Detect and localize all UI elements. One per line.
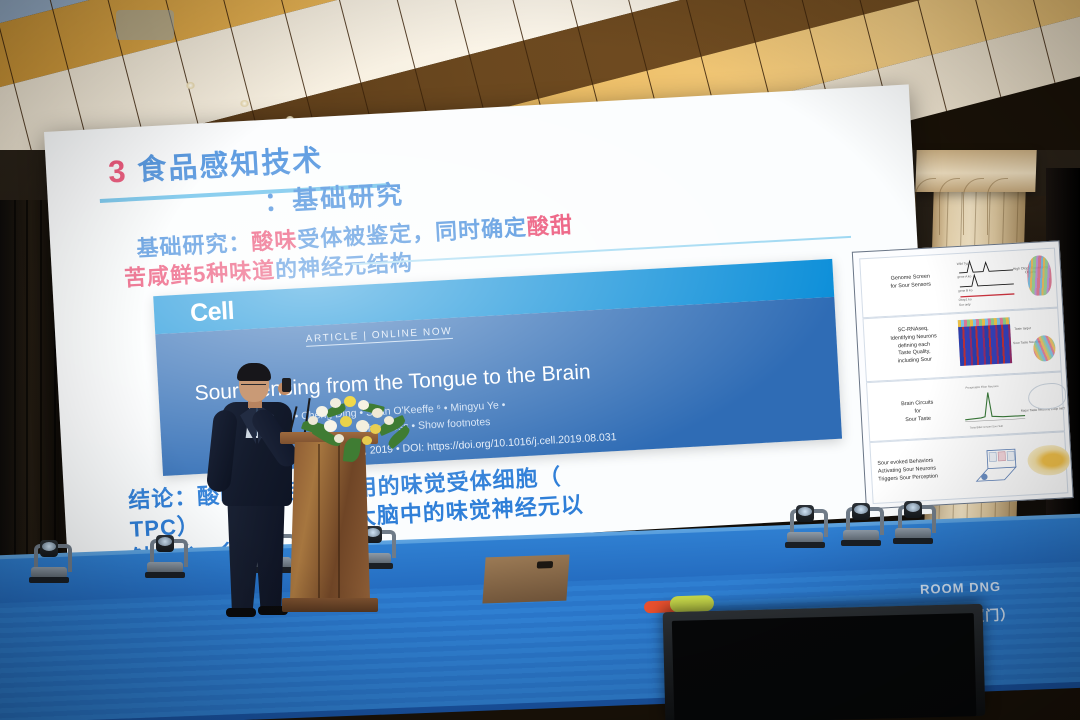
ceiling-downlight (240, 100, 249, 107)
conference-photo: 3 食品感知技术 ：基础研究 基础研究：酸味受体被鉴定，同时确定酸甜 苦咸鲜5种… (0, 0, 1080, 720)
title-separator: ： (263, 185, 293, 216)
body-seg-4: 酸甜 (526, 212, 573, 239)
svg-text:gene A ko: gene A ko (957, 274, 971, 279)
presentation-slide: 3 食品感知技术 ：基础研究 基础研究：酸味受体被鉴定，同时确定酸甜 苦咸鲜5种… (44, 84, 932, 561)
slide-title-sub: ：基础研究 (263, 174, 405, 219)
moving-head-light (790, 505, 820, 547)
figure-row-label: SC-RNAseq, Identifying Neurons defining … (874, 324, 954, 367)
figure-row: Genome Screen for Sour Sensors Wild Type… (859, 248, 1058, 319)
taste-bud-illustration (1026, 255, 1052, 296)
cell-journal-logo: Cell (189, 297, 234, 328)
projection-screen: 3 食品感知技术 ：基础研究 基础研究：酸味受体被鉴定，同时确定酸甜 苦咸鲜5种… (44, 84, 932, 561)
article-kicker: ARTICLE | ONLINE NOW (305, 326, 452, 345)
foreground-monitor (663, 604, 986, 720)
heatmap-graphic (958, 323, 1012, 366)
trace-peaks-graphic: Wild Type gene A ko gene B ko Otop1 ko S… (956, 256, 1017, 307)
svg-text:Otop1 ko: Otop1 ko (959, 297, 972, 302)
moving-head-light (898, 501, 928, 543)
flower-arrangement (300, 394, 420, 454)
neuron-cluster-illustration (1033, 335, 1056, 362)
figure-annotation: Taste target (1014, 326, 1031, 331)
body-seg-5: 苦咸鲜5种味道 (123, 258, 275, 291)
figure-row-label: Brain Circuits for Sour Taste (878, 398, 957, 426)
figure-row-label: Sour evoked Behaviors Activating Sour Ne… (877, 456, 970, 485)
moving-head-light (34, 540, 64, 582)
behavior-box-graphic (968, 438, 1029, 493)
figure-row: Brain Circuits for Sour Taste Presynapti… (866, 371, 1065, 442)
podium (286, 432, 372, 614)
title-sub-text: 基础研究 (291, 179, 404, 215)
article-kicker-text: ARTICLE | ONLINE NOW (305, 326, 452, 347)
peak-trace-graphic: Presynaptic Fiber Neurons Taste Bitter U… (961, 380, 1028, 431)
svg-text:Presynaptic Fiber Neurons: Presynaptic Fiber Neurons (965, 384, 999, 390)
pillar-arch-detail (905, 178, 1055, 238)
ceiling-downlight (116, 10, 174, 40)
svg-text:Taste Bitter Umami Sour Salt: Taste Bitter Umami Sour Salt (970, 424, 1004, 430)
moving-head-light (846, 503, 876, 545)
graphical-abstract-panel: Genome Screen for Sour Sensors Wild Type… (852, 240, 1074, 509)
ceiling-downlight (186, 82, 195, 89)
stage-monitor-wedge (482, 554, 569, 603)
figure-row: Sour evoked Behaviors Activating Sour Ne… (869, 431, 1068, 504)
figure-row-label: Genome Screen for Sour Sensors (871, 272, 950, 292)
figure-row-label-text: SC-RNAseq, Identifying Neurons defining … (890, 326, 937, 365)
mouse-brain-illustration (1027, 444, 1071, 476)
svg-text:Wild Type: Wild Type (957, 261, 971, 266)
svg-text:Sor only: Sor only (959, 302, 971, 307)
body-seg-6: 的神经元结构 (274, 250, 413, 283)
svg-text:gene B ko: gene B ko (958, 288, 973, 293)
figure-row: SC-RNAseq, Identifying Neurons defining … (862, 308, 1061, 383)
stage-skirt-text-en: ROOM DNG (920, 579, 1001, 597)
section-number: 3 (107, 156, 126, 188)
moving-head-light (150, 535, 180, 577)
